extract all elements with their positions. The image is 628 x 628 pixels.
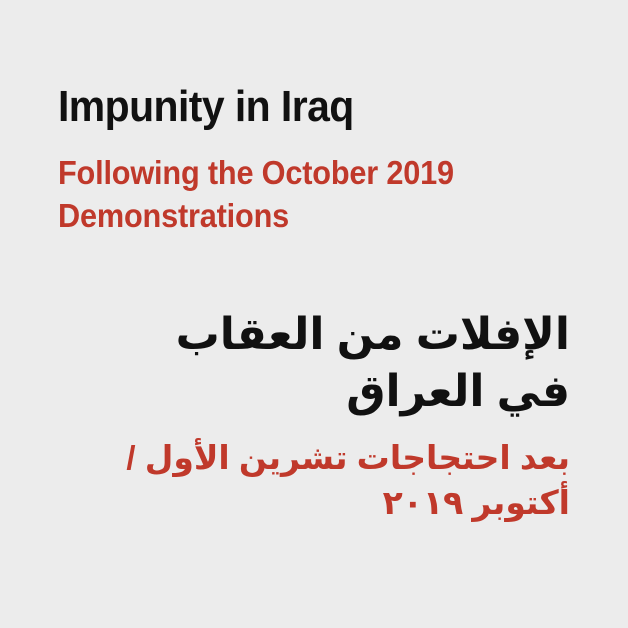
english-text-block: Impunity in Iraq Following the October 2… (58, 84, 578, 238)
english-title: Impunity in Iraq (58, 84, 542, 130)
arabic-text-block: الإفلات من العقاب في العراق بعد احتجاجات… (50, 306, 570, 525)
english-subtitle-line-2: Demonstrations (58, 195, 542, 238)
english-subtitle-line-1: Following the October 2019 (58, 152, 542, 195)
english-subtitle: Following the October 2019 Demonstration… (58, 130, 542, 238)
arabic-subtitle: بعد احتجاجات تشرين الأول / أكتوبر ٢٠١٩ (50, 420, 570, 524)
arabic-title-line-1: الإفلات من العقاب (50, 306, 570, 363)
arabic-title-line-2: في العراق (50, 363, 570, 420)
arabic-subtitle-line-1: بعد احتجاجات تشرين الأول / (50, 436, 570, 480)
arabic-subtitle-line-2: أكتوبر ٢٠١٩ (50, 481, 570, 525)
arabic-title: الإفلات من العقاب في العراق (50, 306, 570, 420)
poster-canvas: Impunity in Iraq Following the October 2… (0, 0, 628, 628)
